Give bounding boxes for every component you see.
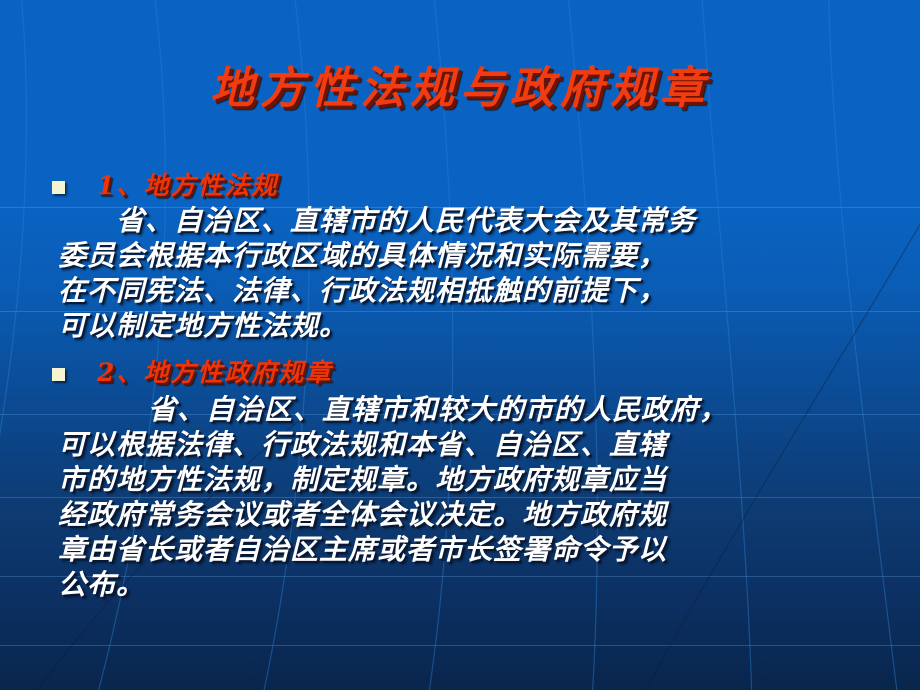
paragraph-line: 省、自治区、直辖市和较大的市的人民政府，: [58, 392, 902, 427]
section-heading-2: 2、地方性政府规章: [97, 359, 332, 388]
square-bullet-icon: [52, 181, 65, 194]
paragraph-line: 经政府常务会议或者全体会议决定。地方政府规: [58, 497, 902, 532]
headline-row-1: 1、地方性法规: [0, 172, 920, 201]
section-paragraph-1: 省、自治区、直辖市的人民代表大会及其常务 委员会根据本行政区域的具体情况和实际需…: [0, 203, 920, 343]
section-local-government-rules: 2、地方性政府规章 省、自治区、直辖市和较大的市的人民政府， 可以根据法律、行政…: [0, 359, 920, 602]
section-heading-1: 1、地方性法规: [97, 172, 278, 201]
paragraph-line: 在不同宪法、法律、行政法规相抵触的前提下，: [58, 273, 902, 308]
paragraph-line: 可以制定地方性法规。: [58, 308, 902, 343]
presentation-slide: 地方性法规与政府规章 1、地方性法规 省、自治区、直辖市的人民代表大会及其常务 …: [0, 0, 920, 690]
square-bullet-icon: [52, 368, 65, 381]
paragraph-line: 章由省长或者自治区主席或者市长签署命令予以: [58, 532, 902, 567]
paragraph-line: 委员会根据本行政区域的具体情况和实际需要，: [58, 238, 902, 273]
section-local-regulations: 1、地方性法规 省、自治区、直辖市的人民代表大会及其常务 委员会根据本行政区域的…: [0, 172, 920, 343]
paragraph-line: 公布。: [58, 567, 902, 602]
section-paragraph-2: 省、自治区、直辖市和较大的市的人民政府， 可以根据法律、行政法规和本省、自治区、…: [0, 392, 920, 602]
paragraph-line: 省、自治区、直辖市的人民代表大会及其常务: [58, 203, 902, 238]
paragraph-line: 市的地方性法规，制定规章。地方政府规章应当: [58, 462, 902, 497]
paragraph-line: 可以根据法律、行政法规和本省、自治区、直辖: [58, 427, 902, 462]
headline-row-2: 2、地方性政府规章: [0, 359, 920, 388]
slide-body: 1、地方性法规 省、自治区、直辖市的人民代表大会及其常务 委员会根据本行政区域的…: [0, 172, 920, 602]
page-title: 地方性法规与政府规章: [0, 52, 920, 116]
